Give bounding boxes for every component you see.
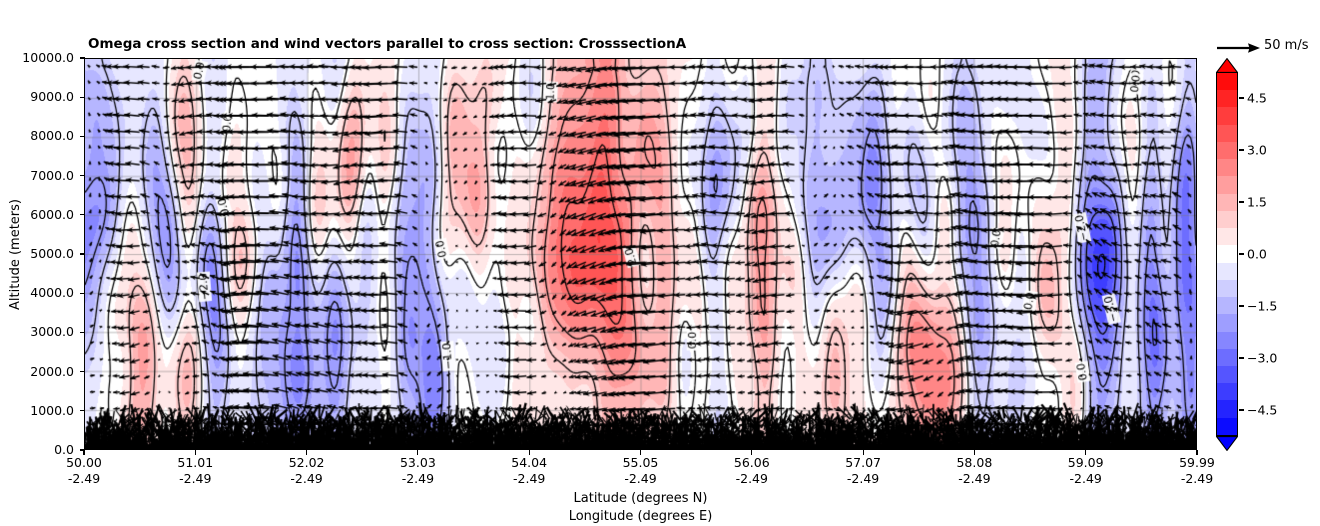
x-tick-latitude: 57.07	[818, 455, 908, 471]
y-tick-mark	[80, 57, 85, 58]
colorbar-band	[1217, 297, 1237, 314]
colorbar-tick-mark	[1239, 409, 1244, 410]
colorbar-band	[1217, 176, 1237, 193]
arrow-right-icon	[1216, 40, 1262, 56]
x-tick-label-group: 53.03-2.49	[373, 455, 463, 487]
x-tick-mark	[863, 450, 864, 455]
colorbar-tick-label: −3.0	[1247, 351, 1277, 366]
y-tick-mark	[80, 214, 85, 215]
colorbar-band	[1217, 263, 1237, 280]
colorbar-label: Omega Pa/s	[1294, 58, 1320, 450]
colorbar-tick-label: 3.0	[1247, 143, 1267, 158]
colorbar-band	[1217, 142, 1237, 159]
y-tick-mark	[80, 371, 85, 372]
omega-cross-section-canvas	[85, 59, 1196, 449]
y-tick-mark	[80, 253, 85, 254]
x-axis-label-longitude: Longitude (degrees E)	[521, 509, 761, 524]
y-tick-mark	[80, 97, 85, 98]
x-tick-label-group: 57.07-2.49	[818, 455, 908, 487]
colorbar-tick-mark	[1239, 305, 1244, 306]
y-tick-mark	[80, 332, 85, 333]
x-tick-latitude: 53.03	[373, 455, 463, 471]
colorbar-band	[1217, 73, 1237, 90]
y-tick-mark	[80, 410, 85, 411]
x-tick-label-group: 51.01-2.49	[150, 455, 240, 487]
colorbar-band	[1217, 366, 1237, 383]
colorbar-tick-mark	[1239, 357, 1244, 358]
x-tick-longitude: -2.49	[373, 471, 463, 487]
colorbar-tick-mark	[1239, 149, 1244, 150]
x-tick-mark	[751, 450, 752, 455]
figure-root: Omega cross section and wind vectors par…	[0, 0, 1320, 526]
colorbar-tick-label: 1.5	[1247, 195, 1267, 210]
colorbar-band	[1217, 418, 1237, 435]
x-tick-latitude: 52.02	[262, 455, 352, 471]
title-line-1: Omega cross section and wind vectors par…	[88, 37, 1188, 53]
x-tick-latitude: 50.00	[39, 455, 129, 471]
x-tick-mark	[640, 450, 641, 455]
quiver-key: 50 m/s	[1216, 38, 1320, 58]
x-tick-mark	[306, 450, 307, 455]
x-axis-label-latitude: Latitude (degrees N)	[521, 491, 761, 506]
colorbar-band	[1217, 90, 1237, 107]
colorbar-band	[1217, 159, 1237, 176]
colorbar-body	[1216, 72, 1238, 436]
x-tick-latitude: 58.08	[929, 455, 1019, 471]
x-tick-longitude: -2.49	[39, 471, 129, 487]
y-tick-mark	[80, 175, 85, 176]
x-tick-mark	[1196, 450, 1197, 455]
x-tick-label-group: 59.99-2.49	[1152, 455, 1242, 487]
x-tick-mark	[529, 450, 530, 455]
colorbar: 4.53.01.50.0−1.5−3.0−4.5 Omega Pa/s	[1216, 58, 1238, 450]
colorbar-band	[1217, 383, 1237, 400]
quiver-key-label: 50 m/s	[1264, 38, 1309, 53]
x-tick-label-group: 52.02-2.49	[262, 455, 352, 487]
y-axis-label: Altitude (meters)	[4, 58, 26, 450]
x-tick-latitude: 59.09	[1041, 455, 1131, 471]
colorbar-band	[1217, 314, 1237, 331]
x-tick-mark	[83, 450, 84, 455]
x-tick-latitude: 55.05	[596, 455, 686, 471]
x-tick-mark	[417, 450, 418, 455]
y-tick-mark	[80, 136, 85, 137]
x-tick-latitude: 56.06	[707, 455, 797, 471]
plot-area	[84, 58, 1197, 450]
x-tick-mark	[195, 450, 196, 455]
x-tick-mark	[974, 450, 975, 455]
x-tick-longitude: -2.49	[1041, 471, 1131, 487]
x-tick-label-group: 55.05-2.49	[596, 455, 686, 487]
colorbar-tick-label: 4.5	[1247, 91, 1267, 106]
colorbar-band	[1217, 332, 1237, 349]
colorbar-band	[1217, 349, 1237, 366]
colorbar-extend-max-arrow	[1216, 58, 1238, 73]
x-tick-label-group: 58.08-2.49	[929, 455, 1019, 487]
colorbar-tick-mark	[1239, 97, 1244, 98]
colorbar-band	[1217, 194, 1237, 211]
colorbar-band	[1217, 400, 1237, 417]
x-tick-longitude: -2.49	[484, 471, 574, 487]
colorbar-tick-label: −1.5	[1247, 299, 1277, 314]
colorbar-band	[1217, 211, 1237, 228]
x-tick-longitude: -2.49	[150, 471, 240, 487]
x-tick-latitude: 59.99	[1152, 455, 1242, 471]
x-tick-mark	[1085, 450, 1086, 455]
x-tick-longitude: -2.49	[596, 471, 686, 487]
x-tick-label-group: 50.00-2.49	[39, 455, 129, 487]
x-tick-longitude: -2.49	[929, 471, 1019, 487]
x-tick-longitude: -2.49	[707, 471, 797, 487]
x-tick-latitude: 54.04	[484, 455, 574, 471]
colorbar-tick-mark	[1239, 253, 1244, 254]
colorbar-band	[1217, 245, 1237, 262]
colorbar-band	[1217, 228, 1237, 245]
x-tick-label-group: 56.06-2.49	[707, 455, 797, 487]
colorbar-tick-label: 0.0	[1247, 247, 1267, 262]
x-tick-label-group: 54.04-2.49	[484, 455, 574, 487]
x-tick-label-group: 59.09-2.49	[1041, 455, 1131, 487]
x-tick-longitude: -2.49	[818, 471, 908, 487]
colorbar-extend-min-arrow	[1216, 436, 1238, 451]
y-tick-mark	[80, 293, 85, 294]
colorbar-band	[1217, 107, 1237, 124]
colorbar-band	[1217, 280, 1237, 297]
x-tick-longitude: -2.49	[1152, 471, 1242, 487]
colorbar-tick-mark	[1239, 201, 1244, 202]
x-tick-longitude: -2.49	[262, 471, 352, 487]
colorbar-tick-label: −4.5	[1247, 403, 1277, 418]
x-tick-latitude: 51.01	[150, 455, 240, 471]
colorbar-band	[1217, 125, 1237, 142]
